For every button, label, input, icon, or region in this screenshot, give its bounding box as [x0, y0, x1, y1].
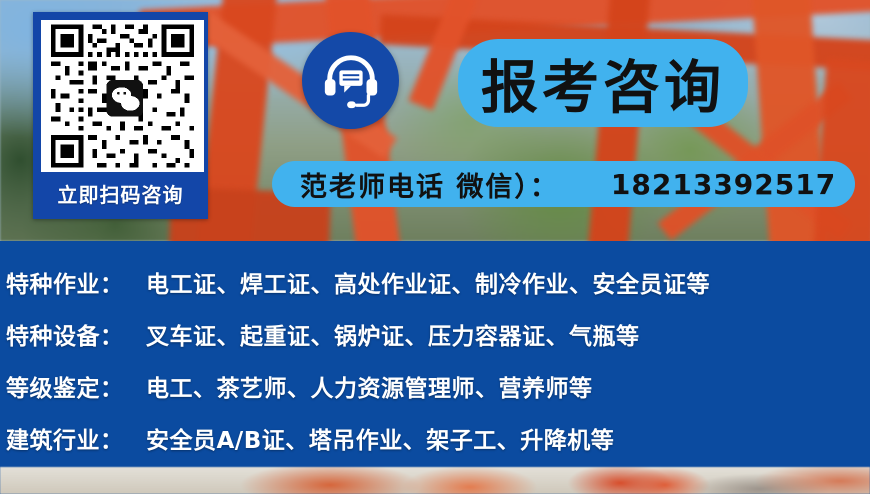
title-pill: 报考咨询 [458, 39, 748, 127]
headset-chat-icon [320, 50, 382, 112]
phone-number[interactable]: 18213392517 [611, 168, 836, 201]
top-photo-banner: 立即扫码咨询 报考咨询 范老师电话 微信）： 18213392517 [0, 0, 870, 241]
promo-poster: 立即扫码咨询 报考咨询 范老师电话 微信）： 18213392517 [0, 0, 870, 494]
row-items: 电工证、焊工证、高处作业证、制冷作业、安全员证等 [146, 265, 710, 299]
row-items: 安全员A/B证、塔吊作业、架子工、升降机等 [146, 421, 614, 455]
headset-badge [302, 32, 399, 129]
qr-code-image[interactable] [41, 20, 204, 172]
row-category: 等级鉴定： [6, 369, 146, 403]
qr-card[interactable]: 立即扫码咨询 [33, 12, 208, 219]
row-category: 建筑行业： [6, 421, 146, 455]
row-category: 特种设备： [6, 317, 146, 351]
phone-label: 范老师电话 微信）： [300, 165, 559, 204]
list-row: 建筑行业： 安全员A/B证、塔吊作业、架子工、升降机等 [0, 403, 870, 455]
qr-caption: 立即扫码咨询 [37, 173, 204, 213]
category-list-block: 特种作业： 电工证、焊工证、高处作业证、制冷作业、安全员证等 特种设备： 叉车证… [0, 241, 870, 467]
list-row: 特种作业： 电工证、焊工证、高处作业证、制冷作业、安全员证等 [0, 241, 870, 299]
phone-pill[interactable]: 范老师电话 微信）： 18213392517 [272, 161, 855, 207]
row-items: 电工、茶艺师、人力资源管理师、营养师等 [146, 369, 593, 403]
row-category: 特种作业： [6, 265, 146, 299]
bottom-photo-strip [0, 467, 870, 494]
list-row: 特种设备： 叉车证、起重证、锅炉证、压力容器证、气瓶等 [0, 299, 870, 351]
row-items: 叉车证、起重证、锅炉证、压力容器证、气瓶等 [146, 317, 640, 351]
list-row: 等级鉴定： 电工、茶艺师、人力资源管理师、营养师等 [0, 351, 870, 403]
title-text: 报考咨询 [481, 42, 725, 124]
qr-code-icon [41, 20, 204, 172]
